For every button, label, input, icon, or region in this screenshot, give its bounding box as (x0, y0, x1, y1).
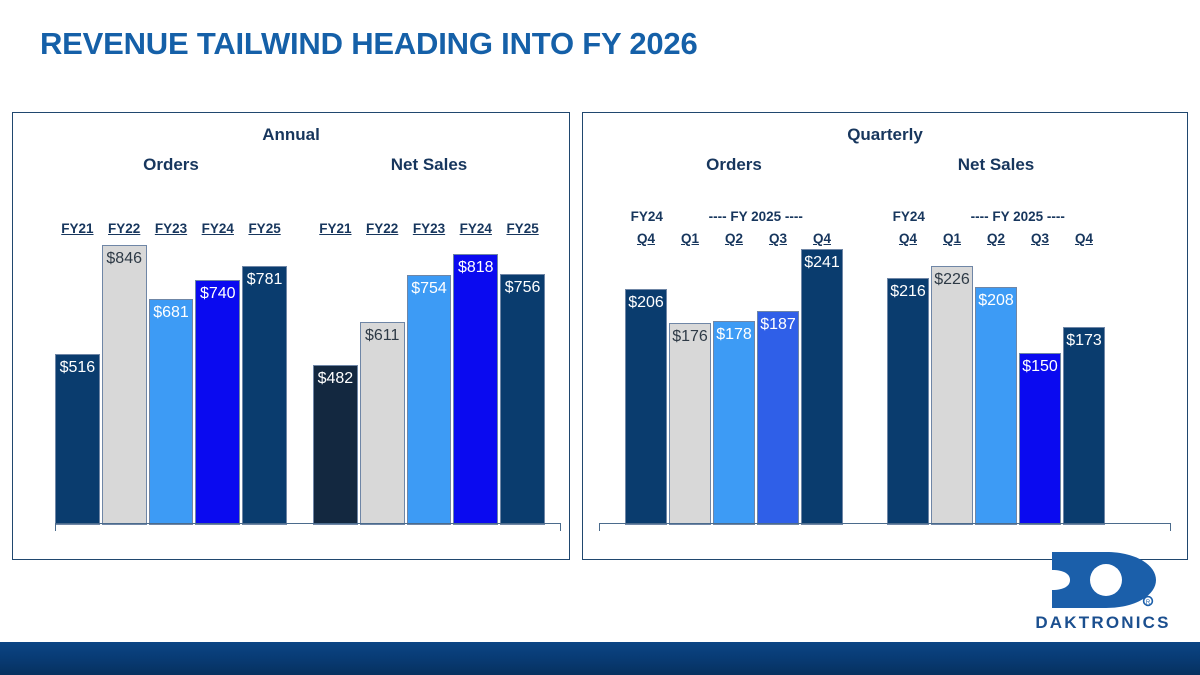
chart-group-quarterly-netsales: Net Sales FY24 ---- FY 2025 ---- Q4Q1Q2Q… (887, 113, 1105, 559)
fy-label-current: ---- FY 2025 ---- (669, 209, 843, 224)
daktronics-logo: R DAKTRONICS (1028, 549, 1178, 637)
bar-item: $681 (149, 225, 194, 525)
bar-value-label: $846 (106, 250, 142, 268)
bar-value-label: $681 (153, 304, 189, 322)
fy-label-prior: FY24 (625, 209, 669, 224)
bar-value-label: $756 (505, 279, 541, 297)
bar: $516 (55, 354, 100, 525)
bar: $818 (453, 254, 498, 525)
plot-annual-orders: $516$846$681$740$781 (55, 225, 287, 525)
bar-value-label: $173 (1066, 332, 1102, 350)
bar-value-label: $781 (247, 271, 283, 289)
bar-item: $754 (407, 225, 452, 525)
bar-series-annual-orders: $516$846$681$740$781 (55, 225, 287, 525)
plot-quarterly-netsales: $216$226$208$150$173 (887, 225, 1105, 525)
bar-item: $173 (1063, 225, 1105, 525)
logo-wordmark: DAKTRONICS (1028, 613, 1178, 633)
bar-value-label: $226 (934, 271, 970, 289)
chart-group-title: Orders (625, 155, 843, 175)
bar-value-label: $150 (1022, 358, 1058, 376)
footer-bar (0, 642, 1200, 675)
bar: $241 (801, 249, 843, 525)
bar-value-label: $187 (760, 316, 796, 334)
bar-item: $241 (801, 225, 843, 525)
baseline-axis-quarterly (599, 523, 1171, 531)
bar: $756 (500, 274, 545, 525)
bar-value-label: $216 (890, 283, 926, 301)
bar-value-label: $241 (804, 254, 840, 272)
svg-text:R: R (1146, 600, 1151, 606)
slide-canvas: REVENUE TAILWIND HEADING INTO FY 2026 An… (0, 0, 1200, 675)
bar-item: $216 (887, 225, 929, 525)
bar-item: $206 (625, 225, 667, 525)
bar: $846 (102, 245, 147, 525)
fy-label-prior: FY24 (887, 209, 931, 224)
bar: $482 (313, 365, 358, 525)
bar: $226 (931, 266, 973, 525)
bar-series-annual-netsales: $482$611$754$818$756 (313, 225, 545, 525)
bar: $150 (1019, 353, 1061, 525)
bar-series-quarterly-netsales: $216$226$208$150$173 (887, 225, 1105, 525)
bar: $740 (195, 280, 240, 525)
bar-item: $846 (102, 225, 147, 525)
bar: $173 (1063, 327, 1105, 525)
panel-quarterly: Quarterly Orders FY24 ---- FY 2025 ---- … (582, 112, 1188, 560)
bar-value-label: $740 (200, 285, 236, 303)
bar-value-label: $482 (318, 370, 354, 388)
panel-annual: Annual Orders FY21FY22FY23FY24FY25 $516$… (12, 112, 570, 560)
bar-item: $516 (55, 225, 100, 525)
bar-item: $482 (313, 225, 358, 525)
bar-item: $208 (975, 225, 1017, 525)
bar-value-label: $178 (716, 326, 752, 344)
bar-item: $781 (242, 225, 287, 525)
bar: $178 (713, 321, 755, 525)
bar-item: $187 (757, 225, 799, 525)
bar-item: $178 (713, 225, 755, 525)
bar: $216 (887, 278, 929, 525)
bar-item: $740 (195, 225, 240, 525)
chart-group-title: Net Sales (887, 155, 1105, 175)
chart-group-title: Orders (55, 155, 287, 175)
bar: $208 (975, 287, 1017, 525)
chart-group-annual-netsales: Net Sales FY21FY22FY23FY24FY25 $482$611$… (313, 113, 545, 559)
bar-item: $176 (669, 225, 711, 525)
chart-group-quarterly-orders: Orders FY24 ---- FY 2025 ---- Q4Q1Q2Q3Q4… (625, 113, 843, 559)
bar-value-label: $611 (365, 327, 399, 345)
fy-label-current: ---- FY 2025 ---- (931, 209, 1105, 224)
bar-item: $756 (500, 225, 545, 525)
bar-item: $611 (360, 225, 405, 525)
bar-value-label: $208 (978, 292, 1014, 310)
bar-value-label: $206 (628, 294, 664, 312)
fiscal-year-header-row: FY24 ---- FY 2025 ---- (625, 209, 843, 224)
bar-series-quarterly-orders: $206$176$178$187$241 (625, 225, 843, 525)
bar: $206 (625, 289, 667, 525)
bar-value-label: $818 (458, 259, 494, 277)
chart-group-annual-orders: Orders FY21FY22FY23FY24FY25 $516$846$681… (55, 113, 287, 559)
bar-value-label: $754 (411, 280, 447, 298)
chart-group-title: Net Sales (313, 155, 545, 175)
bar-value-label: $516 (60, 359, 96, 377)
plot-quarterly-orders: $206$176$178$187$241 (625, 225, 843, 525)
plot-annual-netsales: $482$611$754$818$756 (313, 225, 545, 525)
bar: $176 (669, 323, 711, 525)
page-title: REVENUE TAILWIND HEADING INTO FY 2026 (40, 26, 698, 62)
bar: $781 (242, 266, 287, 525)
baseline-axis-annual (55, 523, 561, 531)
bar: $187 (757, 311, 799, 525)
bar-value-label: $176 (672, 328, 708, 346)
daktronics-d-mark: R (1044, 549, 1162, 611)
bar: $611 (360, 322, 405, 525)
bar-item: $818 (453, 225, 498, 525)
bar-item: $226 (931, 225, 973, 525)
fiscal-year-header-row: FY24 ---- FY 2025 ---- (887, 209, 1105, 224)
bar: $754 (407, 275, 452, 525)
bar: $681 (149, 299, 194, 525)
bar-item: $150 (1019, 225, 1061, 525)
